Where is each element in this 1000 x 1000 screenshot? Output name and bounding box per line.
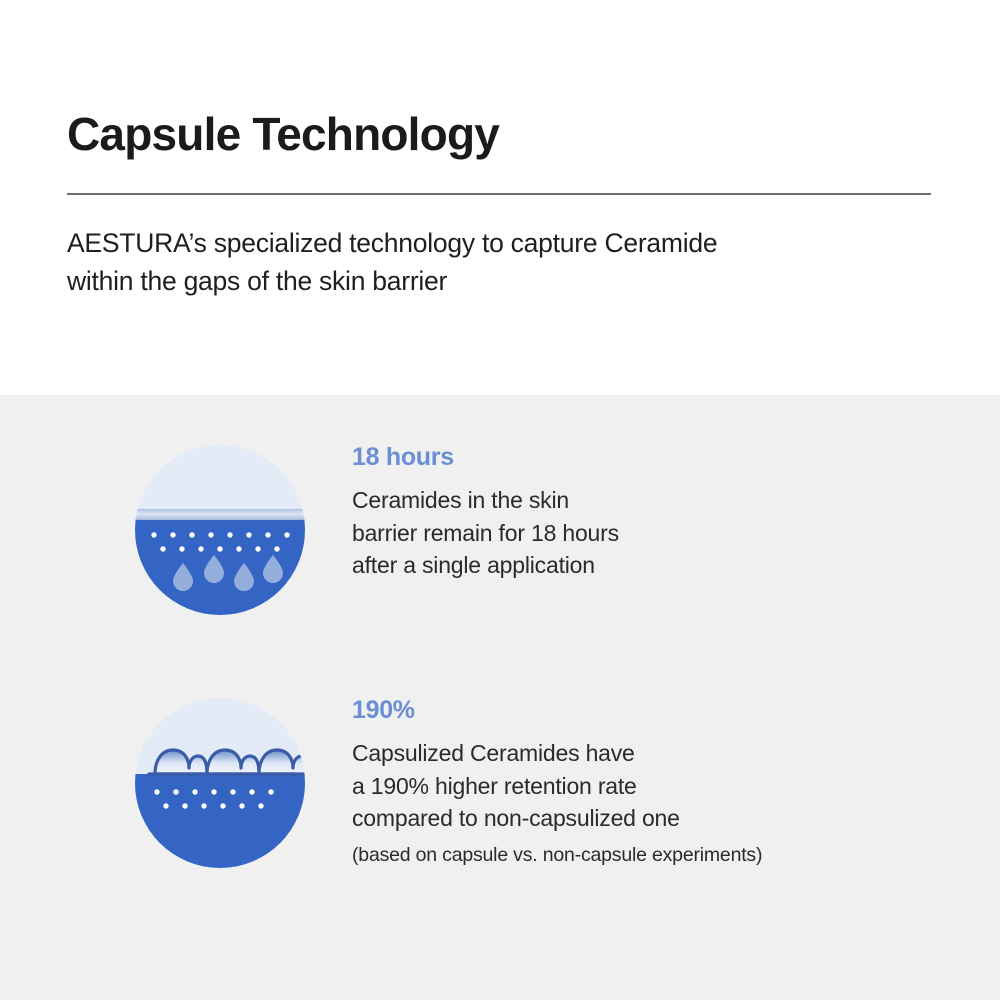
stat-value: 18 hours [352,445,952,470]
description-line: Ceramides in the skin [352,484,952,517]
header-section: Capsule Technology AESTURA’s specialized… [0,0,1000,395]
feature-copy: 18 hours Ceramides in the skin barrier r… [352,445,952,582]
page-title: Capsule Technology [67,109,499,160]
description-line: barrier remain for 18 hours [352,517,952,550]
rain-droplets-circle-icon [135,445,305,615]
ocean-waves-circle-icon [135,698,305,868]
feature-copy: 190% Capsulized Ceramides have a 190% hi… [352,698,952,867]
feature-description: Capsulized Ceramides have a 190% higher … [352,737,952,835]
description-line: compared to non-capsulized one [352,802,952,835]
description-line: after a single application [352,549,952,582]
features-section: 18 hours Ceramides in the skin barrier r… [0,395,1000,1000]
title-divider [67,193,931,195]
subtitle-line-2: within the gaps of the skin barrier [67,263,957,301]
infographic-page: Capsule Technology AESTURA’s specialized… [0,0,1000,1000]
stat-value: 190% [352,698,952,723]
description-line: a 190% higher retention rate [352,770,952,803]
feature-footnote: (based on capsule vs. non-capsule experi… [352,844,952,867]
description-line: Capsulized Ceramides have [352,737,952,770]
page-subtitle: AESTURA’s specialized technology to capt… [67,225,957,300]
subtitle-line-1: AESTURA’s specialized technology to capt… [67,225,957,263]
feature-description: Ceramides in the skin barrier remain for… [352,484,952,582]
